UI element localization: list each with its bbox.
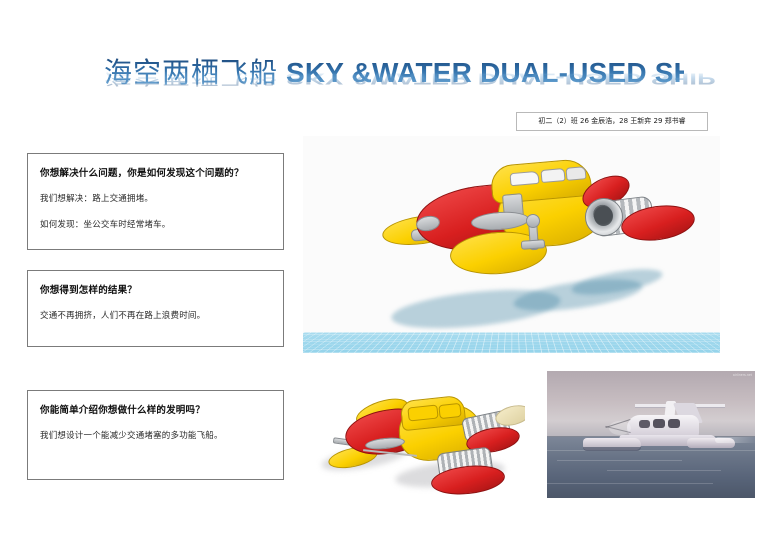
- aircraft-wake-spray: [715, 437, 755, 443]
- aircraft-window: [639, 420, 650, 428]
- question-box-result: 你想得到怎样的结果？ 交通不再拥挤，人们不再在路上浪费时间。: [27, 270, 284, 347]
- page-title-english: SKY &WATER DUAL-USED SHIP: [278, 57, 721, 88]
- render-secondary-image: [303, 366, 525, 506]
- page-title-text: 海空两栖飞船 SKY &WATER DUAL-USED SHIP: [104, 56, 684, 90]
- cabin-window: [540, 168, 565, 183]
- landing-gear-hub: [526, 214, 540, 228]
- question-answer-line: 交通不再拥挤，人们不再在路上浪费时间。: [40, 309, 271, 323]
- aircraft-window: [653, 419, 665, 428]
- question-heading: 你能简单介绍你想做什么样的发明吗？: [40, 403, 271, 418]
- photo-watermark: airliners.net: [733, 373, 752, 377]
- question-answer-line: 如何发现：坐公交车时经常堵车。: [40, 218, 271, 232]
- question-answer-line: 我们想解决：路上交通拥堵。: [40, 192, 271, 206]
- aircraft-window: [668, 419, 680, 428]
- question-box-problem: 你想解决什么问题，你是如何发现这个问题的？ 我们想解决：路上交通拥堵。 如何发现…: [27, 153, 284, 250]
- question-heading: 你想解决什么问题，你是如何发现这个问题的？: [40, 166, 271, 181]
- render-main-image: [303, 136, 720, 353]
- question-heading: 你想得到怎样的结果？: [40, 283, 271, 298]
- aircraft-float-left-shadow: [583, 447, 641, 451]
- engine-intake-hole: [594, 206, 613, 226]
- page-title-chinese: 海空两栖飞船: [104, 56, 278, 89]
- landing-gear-foot: [521, 239, 546, 250]
- seaplane-photo: airliners.net: [547, 371, 755, 498]
- photo-wave: [547, 483, 713, 484]
- question-box-invention: 你能简单介绍你想做什么样的发明吗？ 我们想设计一个能减少交通堵塞的多功能飞船。: [27, 390, 284, 480]
- photo-wave: [547, 450, 755, 451]
- cabin-window: [565, 166, 586, 181]
- photo-wave: [557, 460, 682, 461]
- cabin-window: [509, 171, 539, 186]
- question-answer-line: 我们想设计一个能减少交通堵塞的多功能飞船。: [40, 429, 271, 443]
- cabin-window: [438, 403, 461, 419]
- photo-wave: [607, 470, 721, 471]
- page-title: 海空两栖飞船 SKY &WATER DUAL-USED SHIP 海空两栖飞船 …: [104, 56, 684, 108]
- byline-box: 初二（2）班 26 金辰浩，28 王新弈 29 郑书睿: [516, 112, 708, 131]
